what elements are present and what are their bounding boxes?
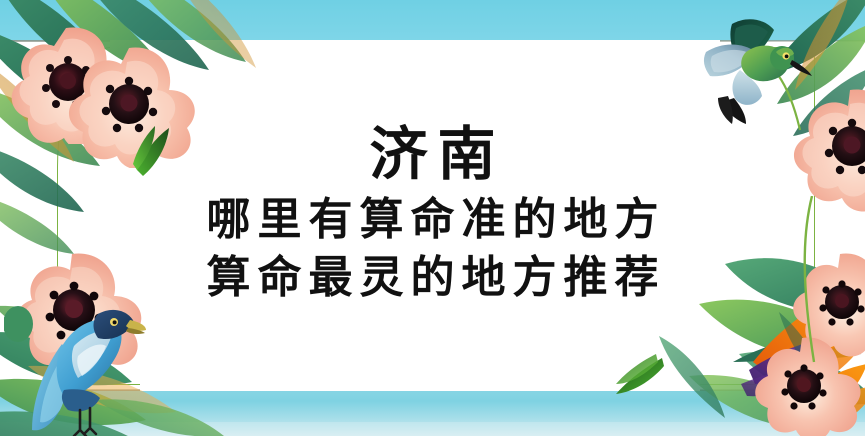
frame-mask-top <box>110 40 720 50</box>
frame-mask-bottom <box>140 381 700 391</box>
banner-image: 济南 哪里有算命准的地方 算命最灵的地方推荐 <box>0 0 865 436</box>
card-inner-frame <box>57 47 815 385</box>
background-bottom-strip <box>0 422 865 436</box>
